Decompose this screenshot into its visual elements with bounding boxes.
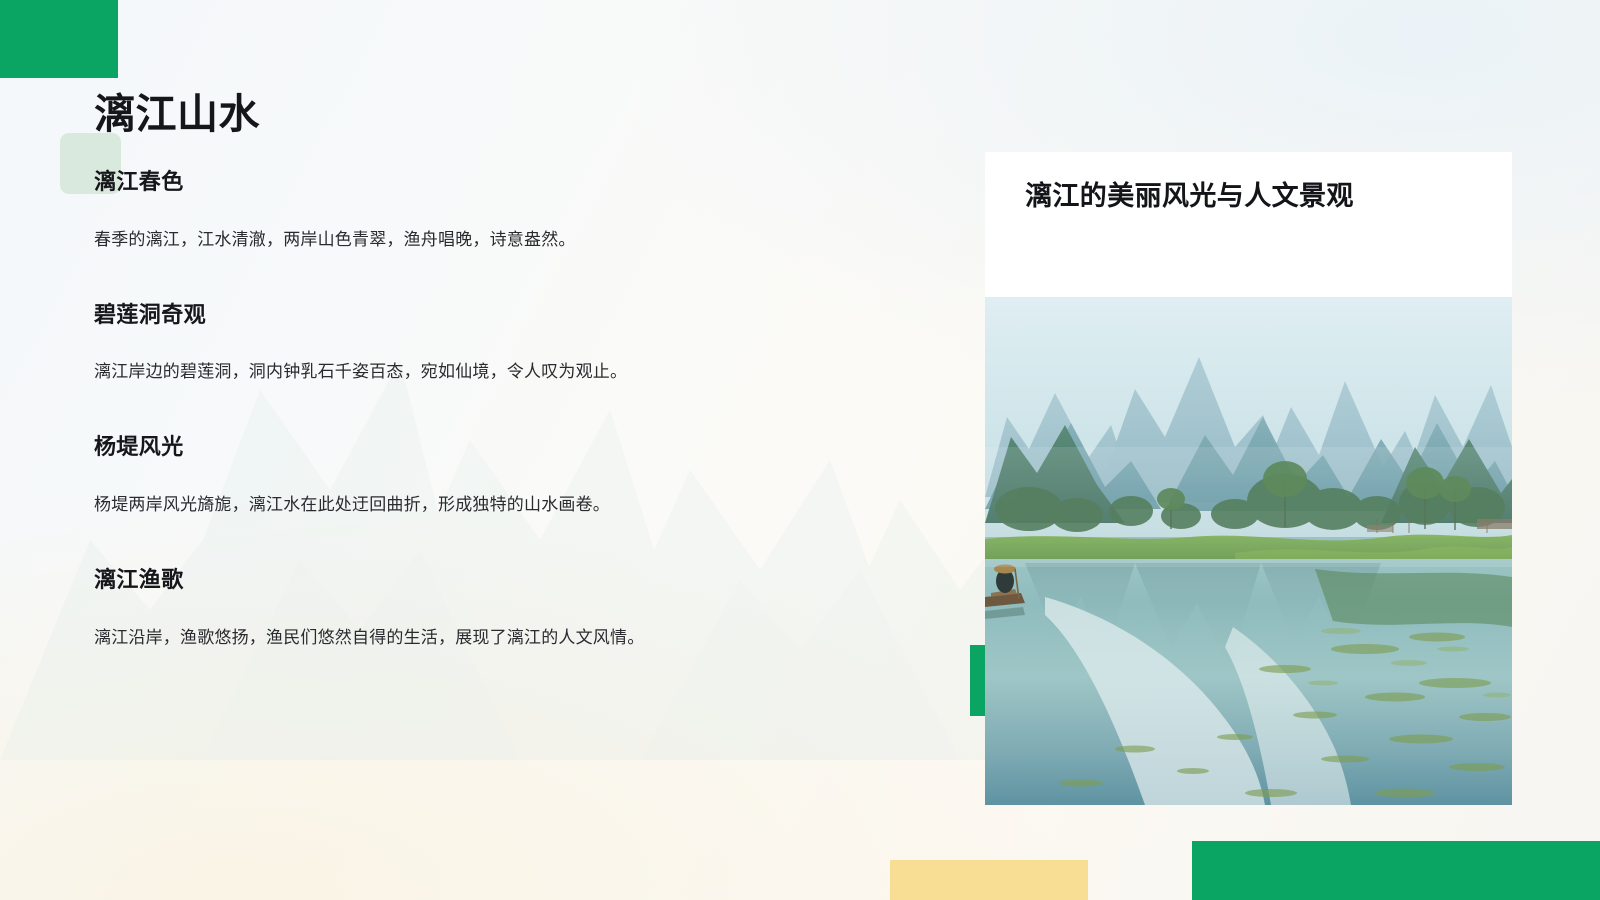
green-accent-block [0,0,118,78]
section-body: 漓江岸边的碧莲洞，洞内钟乳石千姿百态，宛如仙境，令人叹为观止。 [94,358,884,385]
section-body: 杨堤两岸风光旖旎，漓江水在此处迂回曲折，形成独特的山水画卷。 [94,491,884,518]
content-section-3: 杨堤风光 杨堤两岸风光旖旎，漓江水在此处迂回曲折，形成独特的山水画卷。 [94,433,884,518]
section-heading: 碧莲洞奇观 [94,301,884,329]
yellow-accent-bar [890,860,1088,900]
media-card-title: 漓江的美丽风光与人文景观 [1025,177,1486,215]
content-section-4: 漓江渔歌 漓江沿岸，渔歌悠扬，渔民们悠然自得的生活，展现了漓江的人文风情。 [94,566,884,651]
section-heading: 杨堤风光 [94,433,884,461]
section-body: 春季的漓江，江水清澈，两岸山色青翠，渔舟唱晚，诗意盎然。 [94,226,884,253]
content-sections: 漓江春色 春季的漓江，江水清澈，两岸山色青翠，渔舟唱晚，诗意盎然。 碧莲洞奇观 … [94,168,884,651]
section-body: 漓江沿岸，渔歌悠扬，渔民们悠然自得的生活，展现了漓江的人文风情。 [94,624,884,651]
content-section-2: 碧莲洞奇观 漓江岸边的碧莲洞，洞内钟乳石千姿百态，宛如仙境，令人叹为观止。 [94,301,884,386]
slide-canvas: 漓江山水 漓江春色 春季的漓江，江水清澈，两岸山色青翠，渔舟唱晚，诗意盎然。 碧… [0,0,1600,900]
section-heading: 漓江渔歌 [94,566,884,594]
green-accent-bar [1192,841,1600,900]
section-heading: 漓江春色 [94,168,884,196]
landscape-photo [985,297,1512,805]
media-card: 漓江的美丽风光与人文景观 [985,152,1512,805]
content-section-1: 漓江春色 春季的漓江，江水清澈，两岸山色青翠，渔舟唱晚，诗意盎然。 [94,168,884,253]
page-title: 漓江山水 [94,90,260,139]
